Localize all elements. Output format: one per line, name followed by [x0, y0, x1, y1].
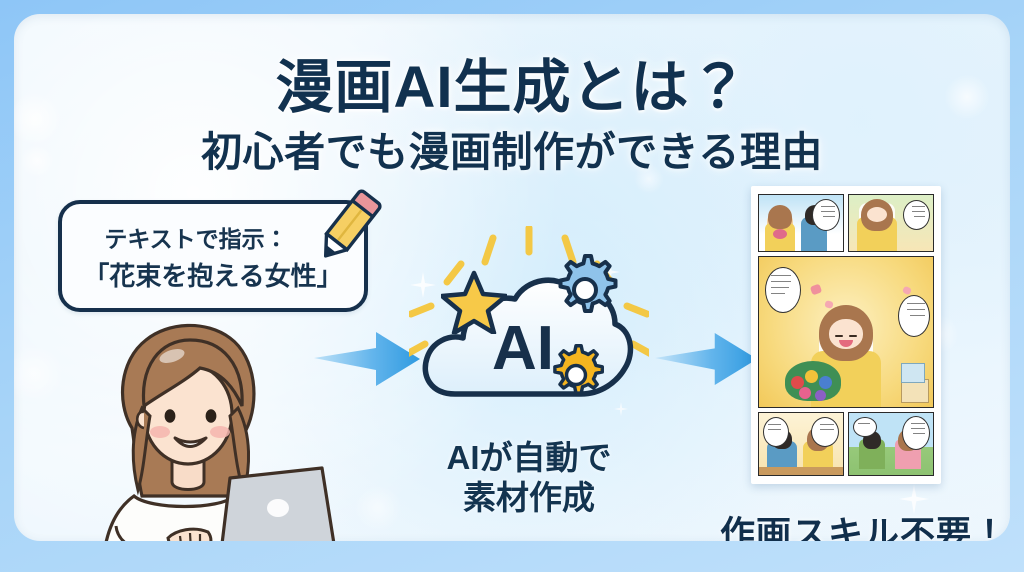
center-caption: AIが自動で 素材作成: [394, 438, 664, 519]
arrow-right-icon: [655, 326, 761, 392]
manga-row-top: [758, 194, 934, 252]
manga-panel: [848, 412, 934, 476]
infographic-canvas: 漫画AI生成とは？ 初心者でも漫画制作ができる理由 テキストで指示： 「花束を抱…: [0, 0, 1024, 572]
manga-speech-bubble: [903, 200, 930, 230]
manga-panel: [758, 256, 934, 408]
prompt-speech-bubble: テキストで指示： 「花束を抱える女性」: [58, 200, 368, 312]
gear-icon: [549, 254, 621, 326]
ai-node: AI: [409, 226, 649, 426]
bokeh-dot: [14, 344, 64, 404]
center-caption-line1: AIが自動で: [394, 438, 664, 478]
prompt-label: テキストで指示：: [104, 220, 321, 254]
right-caption: 作画スキル不要！: [714, 506, 1010, 541]
manga-speech-bubble: [765, 267, 801, 313]
manga-panel: [848, 194, 934, 252]
gear-icon: [545, 344, 607, 406]
manga-row-big: [758, 256, 934, 408]
manga-speech-bubble: [898, 295, 930, 337]
manga-speech-bubble: [812, 199, 840, 231]
manga-speech-bubble: [853, 417, 877, 437]
manga-panel: [758, 194, 844, 252]
page-subtitle: 初心者でも漫画制作ができる理由: [14, 118, 1010, 178]
manga-page-preview: [751, 186, 941, 484]
manga-row-bottom: [758, 412, 934, 476]
star-icon: [441, 270, 507, 334]
pencil-icon: [304, 186, 398, 274]
content-card: 漫画AI生成とは？ 初心者でも漫画制作ができる理由 テキストで指示： 「花束を抱…: [14, 14, 1010, 541]
woman-with-laptop-illustration: [72, 310, 342, 541]
manga-speech-bubble: [763, 417, 789, 447]
manga-speech-bubble: [811, 417, 839, 447]
arrow-right-icon: [314, 326, 424, 392]
center-caption-line2: 素材作成: [394, 478, 664, 518]
manga-panel: [758, 412, 844, 476]
page-title: 漫画AI生成とは？: [14, 40, 1010, 124]
